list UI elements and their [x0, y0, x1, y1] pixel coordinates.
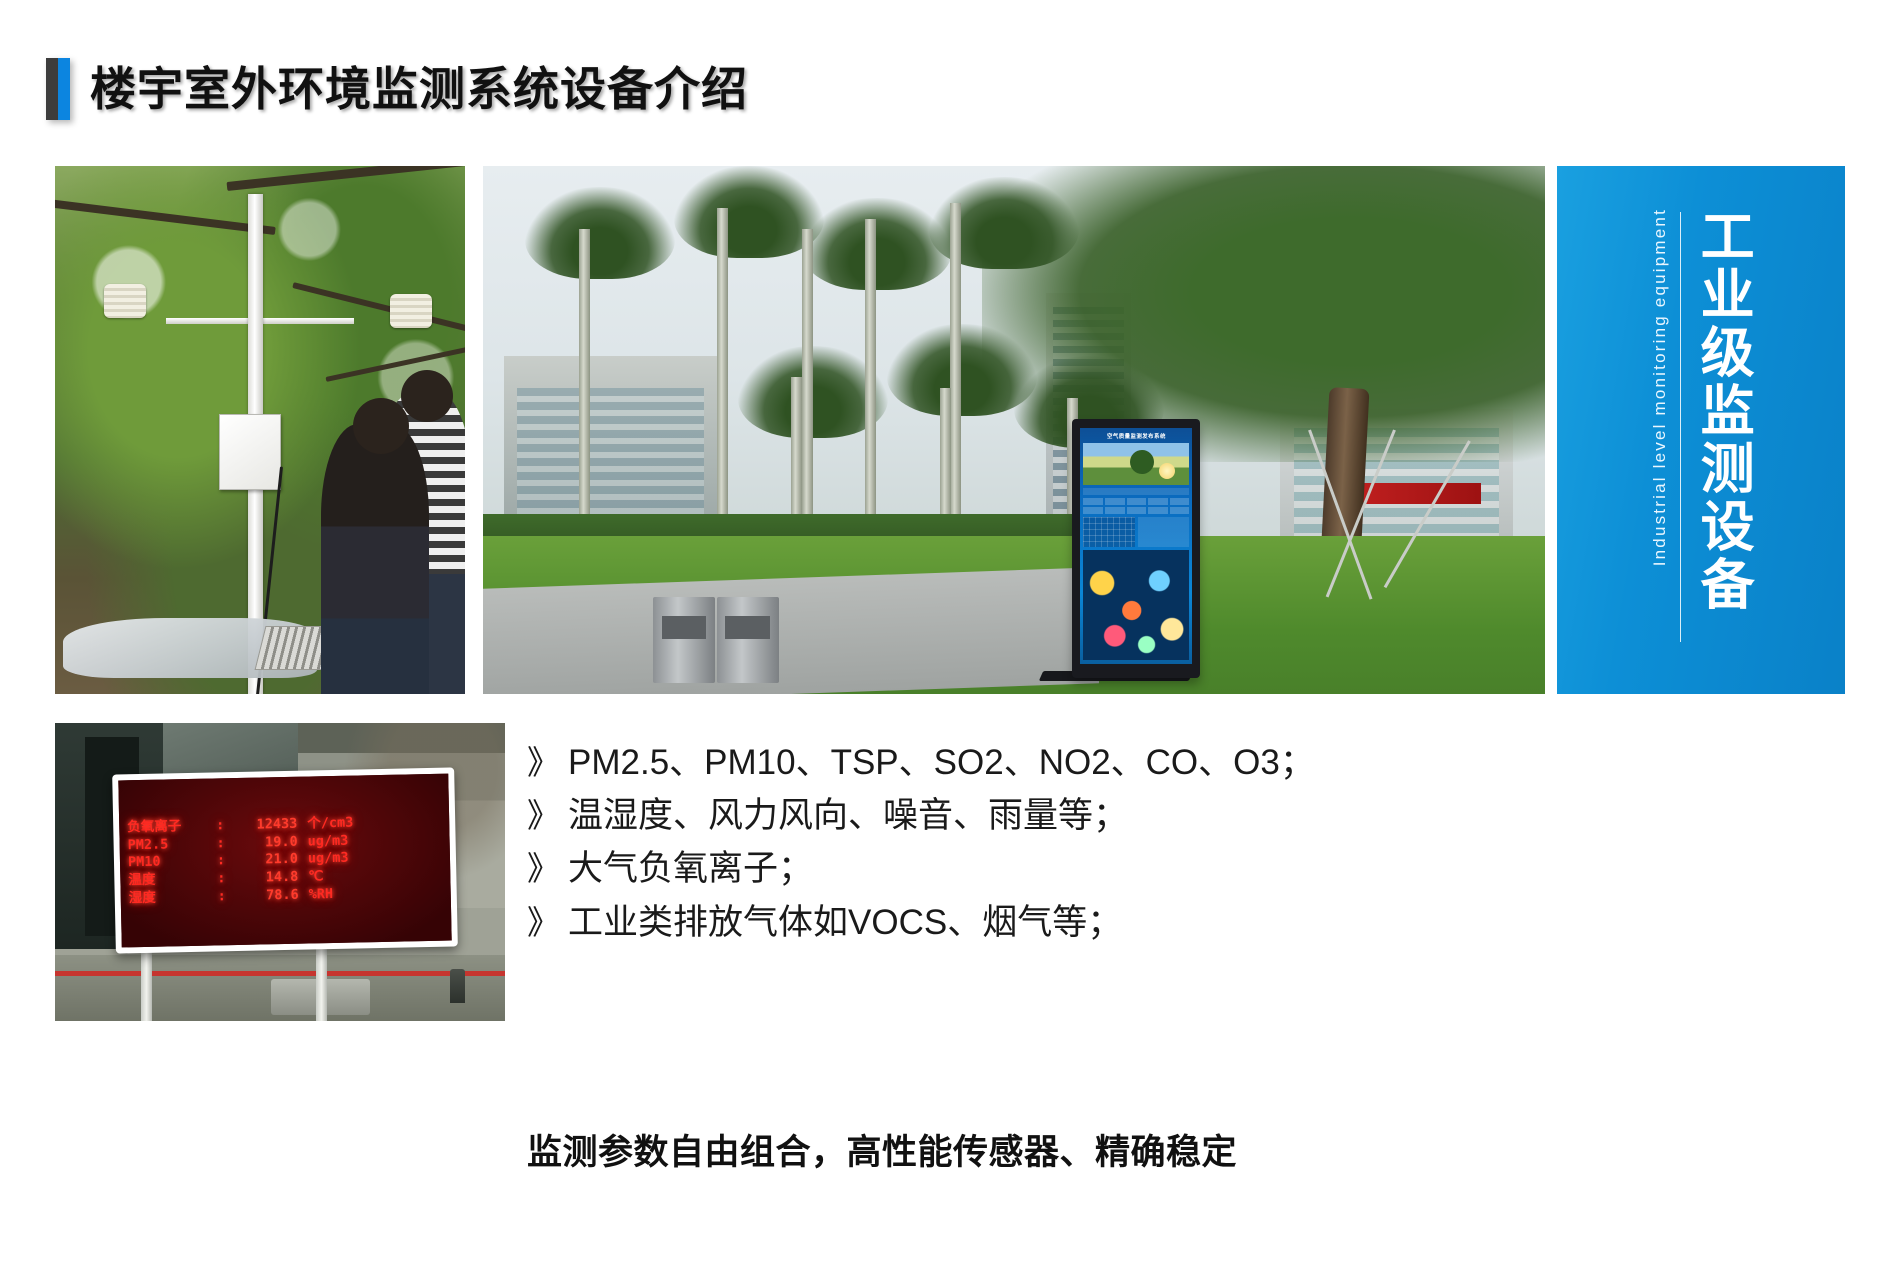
kiosk-bar-chart: [1138, 517, 1190, 547]
title-accent-dark: [46, 58, 58, 120]
led-value: 14.8: [228, 870, 298, 887]
kiosk-metric-tile: [1083, 507, 1103, 514]
led-unit: %RH: [298, 886, 364, 903]
bin-opening: [662, 616, 707, 638]
display-post-right: [316, 949, 327, 1021]
list-item-label: PM2.5、PM10、TSP、SO2、NO2、CO、O3；: [568, 736, 1315, 789]
list-item-label: 大气负氧离子；: [568, 842, 813, 895]
kiosk-metric-tile: [1170, 507, 1190, 514]
palm-trunk: [802, 229, 813, 525]
page-title: 楼宇室外环境监测系统设备介绍: [46, 58, 748, 120]
display-post-left: [141, 949, 152, 1021]
led-colon: :: [214, 871, 228, 887]
side-banner-cn-text: 工业级监测设备: [1693, 208, 1751, 614]
side-banner-content: 工业级监测设备 Industrial level monitoring equi…: [1557, 166, 1845, 694]
led-colon: :: [213, 817, 227, 833]
kiosk-screen: 空气质量监测发布系统: [1080, 428, 1192, 664]
kiosk-bokeh-banner: [1083, 550, 1189, 660]
led-board-screen: 负氧离子 : 12433 个/cm3 PM2.5 : 19.0 ug/m3 PM…: [118, 773, 451, 947]
photo-led-display: 负氧离子 : 12433 个/cm3 PM2.5 : 19.0 ug/m3 PM…: [55, 723, 505, 1021]
bullet-marker-icon: 》: [527, 898, 560, 948]
list-item: 》 大气负氧离子；: [527, 842, 1527, 895]
led-label: 湿度: [128, 889, 214, 907]
slide-root: 楼宇室外环境监测系统设备介绍: [0, 0, 1900, 1267]
led-label: 负氧离子: [127, 818, 213, 836]
list-item-label: 工业类排放气体如VOCS、烟气等；: [568, 896, 1122, 949]
led-label: 温度: [128, 872, 214, 890]
kiosk-title: 空气质量监测发布系统: [1083, 432, 1189, 440]
kiosk-metric-tile: [1127, 498, 1147, 505]
palm-crown: [525, 187, 675, 279]
building-windows: [517, 388, 704, 524]
title-accent-bar: [46, 58, 70, 120]
palm-trunk: [950, 203, 961, 525]
kiosk-description-bar: [1083, 488, 1189, 495]
kiosk-metric-tile: [1148, 507, 1168, 514]
hotel-building: [504, 356, 716, 536]
palm-trunk: [940, 388, 951, 525]
kiosk-line-chart: [1083, 517, 1135, 547]
radiation-shield-left: [104, 284, 146, 318]
technician-black-shirt: [321, 424, 429, 694]
side-banner-divider: [1680, 212, 1681, 642]
red-railing: [55, 971, 505, 976]
equipment-enclosure: [219, 414, 281, 490]
kiosk-metric-tile: [1105, 507, 1125, 514]
list-item: 》 温湿度、风力风向、噪音、雨量等；: [527, 789, 1527, 842]
kiosk-tree-graphic: [1130, 450, 1154, 474]
palm-trunk: [717, 208, 728, 525]
photo-park-kiosk: 空气质量监测发布系统: [483, 166, 1545, 694]
page-title-text: 楼宇室外环境监测系统设备介绍: [90, 66, 748, 112]
radiation-shield-right: [390, 294, 432, 328]
led-colon: :: [213, 853, 227, 869]
list-item-label: 温湿度、风力风向、噪音、雨量等；: [568, 789, 1128, 842]
led-unit: ug/m3: [297, 850, 363, 867]
bullet-marker-icon: 》: [527, 844, 560, 894]
palm-trunk: [865, 219, 876, 525]
trash-bin-left: [653, 597, 715, 683]
led-value: 78.6: [228, 888, 298, 905]
kiosk-metric-tile: [1127, 507, 1147, 514]
paved-walkway: [483, 567, 1099, 694]
led-colon: :: [213, 835, 227, 851]
photo-weather-station: [55, 166, 465, 694]
summary-statement: 监测参数自由组合，高性能传感器、精确稳定: [527, 1124, 1237, 1175]
kiosk-metric-tile: [1148, 498, 1168, 505]
led-unit: 个/cm3: [297, 815, 363, 832]
led-board-frame: 负氧离子 : 12433 个/cm3 PM2.5 : 19.0 ug/m3 PM…: [112, 767, 458, 953]
technician-head: [401, 370, 453, 422]
palm-trunk: [791, 377, 802, 525]
bullet-marker-icon: 》: [527, 738, 560, 788]
led-colon: :: [214, 889, 228, 905]
bullet-marker-icon: 》: [527, 791, 560, 841]
side-banner-en-text: Industrial level monitoring equipment: [1651, 208, 1668, 566]
led-label: PM2.5: [127, 836, 213, 854]
air-quality-kiosk: 空气质量监测发布系统: [1072, 419, 1200, 678]
led-value: 12433: [227, 816, 297, 833]
garden-lamp: [450, 969, 465, 1003]
palm-crown: [802, 198, 952, 290]
kiosk-hero-image: [1083, 443, 1189, 485]
bin-opening: [725, 616, 770, 638]
list-item: 》 PM2.5、PM10、TSP、SO2、NO2、CO、O3；: [527, 736, 1527, 789]
kiosk-metric-tile: [1105, 498, 1125, 505]
technician-head: [353, 398, 409, 454]
list-item: 》 工业类排放气体如VOCS、烟气等；: [527, 896, 1527, 949]
kiosk-charts: [1083, 517, 1189, 547]
feature-list: 》 PM2.5、PM10、TSP、SO2、NO2、CO、O3； 》 温湿度、风力…: [527, 736, 1527, 949]
title-accent-blue: [58, 58, 70, 120]
palm-trunk: [579, 229, 590, 525]
kiosk-metric-tile: [1083, 498, 1103, 505]
kiosk-sun-graphic: [1159, 463, 1175, 479]
side-banner: 工业级监测设备 Industrial level monitoring equi…: [1557, 166, 1845, 694]
led-label: PM10: [127, 854, 213, 872]
trash-bin-right: [717, 597, 779, 683]
led-unit: ug/m3: [297, 833, 363, 850]
led-value: 19.0: [227, 834, 297, 851]
kiosk-metric-tile: [1170, 498, 1190, 505]
kiosk-metric-grid: [1083, 498, 1189, 514]
led-value: 21.0: [227, 852, 297, 869]
led-unit: ℃: [298, 868, 364, 885]
